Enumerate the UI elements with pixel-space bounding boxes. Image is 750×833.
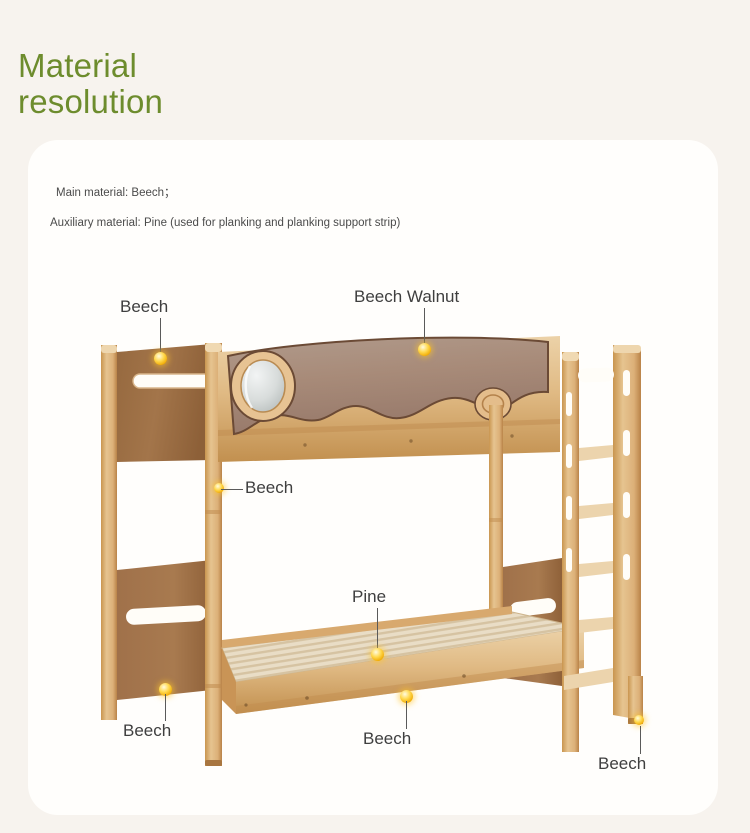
callout-label-beech-bottom-rail: Beech bbox=[363, 729, 411, 749]
callout-dot-pine bbox=[371, 648, 384, 661]
callout-leader-beech-walnut bbox=[424, 308, 425, 344]
callout-leader-beech-top-left bbox=[160, 318, 161, 353]
page-title: Material resolution bbox=[18, 48, 348, 120]
main-material-text: Main material: Beech； bbox=[56, 186, 176, 201]
callout-dot-beech-mid-post bbox=[214, 483, 224, 493]
callout-label-pine: Pine bbox=[352, 587, 386, 607]
callout-dot-beech-bottom-right bbox=[634, 715, 644, 725]
callout-dot-beech-top-left bbox=[154, 352, 167, 365]
callout-label-beech-top-left: Beech bbox=[120, 297, 168, 317]
callout-leader-beech-bottom-left bbox=[165, 694, 166, 721]
callout-dot-beech-walnut bbox=[418, 343, 431, 356]
callout-label-beech-walnut: Beech Walnut bbox=[354, 287, 459, 307]
auxiliary-material-text: Auxiliary material: Pine (used for plank… bbox=[50, 216, 410, 231]
callout-leader-beech-bottom-rail bbox=[406, 701, 407, 729]
callout-leader-beech-mid-post bbox=[221, 489, 243, 490]
callout-label-beech-bottom-right: Beech bbox=[598, 754, 646, 774]
callout-leader-beech-bottom-right bbox=[640, 726, 641, 754]
callout-leader-pine bbox=[377, 608, 378, 649]
callout-label-beech-bottom-left: Beech bbox=[123, 721, 171, 741]
page-root: Material resolution Main material: Beech… bbox=[0, 0, 750, 833]
content-card bbox=[28, 140, 718, 815]
callout-label-beech-mid-post: Beech bbox=[245, 478, 293, 498]
